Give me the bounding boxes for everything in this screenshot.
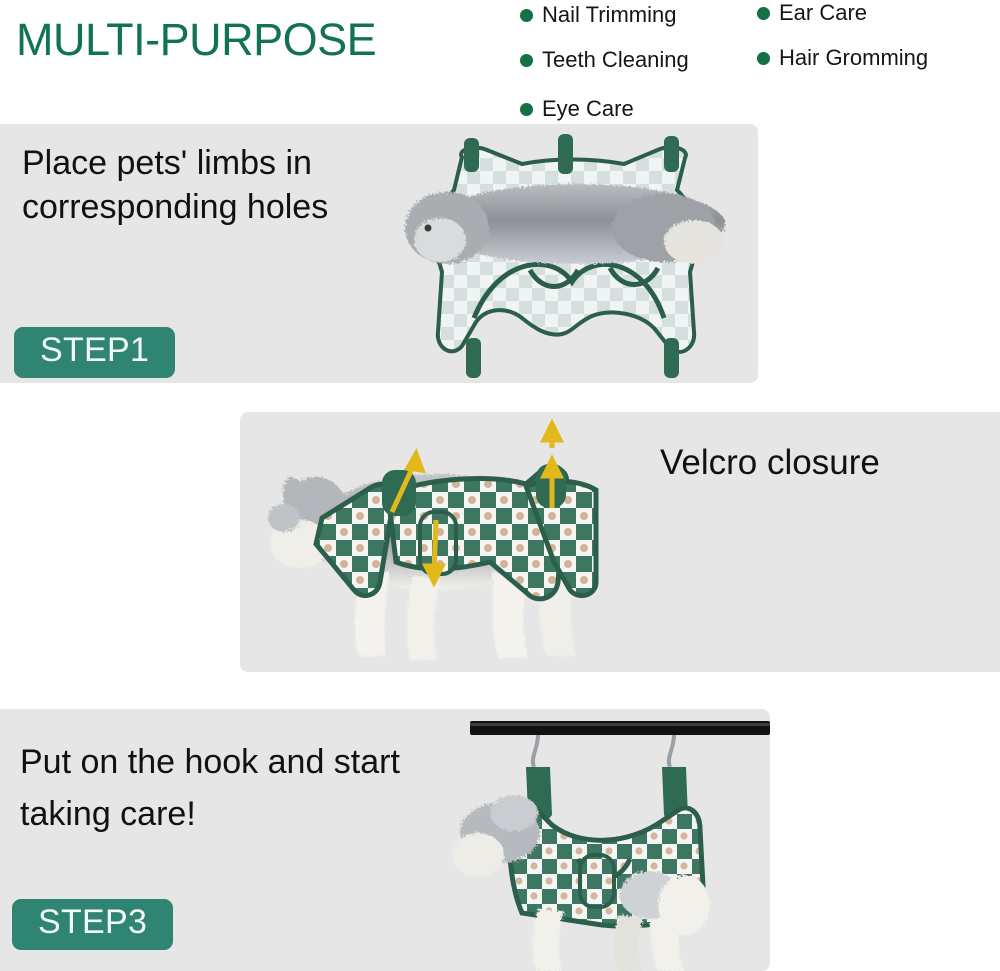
step-2-product-image	[240, 412, 660, 672]
step-3-text: Put on the hook and start taking care!	[20, 737, 450, 840]
feature-item-teeth-cleaning: Teeth Cleaning	[520, 47, 689, 73]
feature-item-nail-trimming: Nail Trimming	[520, 2, 676, 28]
page-title: MULTI-PURPOSE	[16, 14, 376, 66]
step-3-badge: STEP3	[12, 899, 173, 950]
step-3-panel: Put on the hook and start taking care!	[0, 709, 770, 971]
feature-item-eye-care: Eye Care	[520, 96, 634, 122]
step-2-panel: Velcro closure STEP2	[240, 412, 1000, 672]
bullet-dot-icon	[757, 7, 770, 20]
bullet-dot-icon	[520, 9, 533, 22]
feature-label: Teeth Cleaning	[542, 47, 689, 73]
infographic-root: MULTI-PURPOSE Nail Trimming Teeth Cleani…	[0, 0, 1000, 971]
feature-item-hair-gromming: Hair Gromming	[757, 45, 928, 71]
feature-list: Nail Trimming Teeth Cleaning Eye Care Ea…	[512, 0, 1000, 124]
step-1-panel: Place pets' limbs in corresponding holes	[0, 124, 758, 383]
feature-label: Nail Trimming	[542, 2, 676, 28]
bullet-dot-icon	[520, 54, 533, 67]
bullet-dot-icon	[520, 103, 533, 116]
feature-label: Eye Care	[542, 96, 634, 122]
step-2-panel-inner: Velcro closure STEP2	[240, 412, 1000, 672]
feature-item-ear-care: Ear Care	[757, 0, 867, 26]
step-2-text: Velcro closure	[660, 440, 990, 485]
step-1-text: Place pets' limbs in corresponding holes	[22, 142, 442, 230]
feature-label: Ear Care	[779, 0, 867, 26]
step-3-panel-inner: Put on the hook and start taking care!	[0, 709, 770, 971]
step-1-panel-inner: Place pets' limbs in corresponding holes	[0, 124, 758, 383]
step-3-product-image	[452, 709, 770, 971]
hook-icon	[533, 735, 674, 767]
bullet-dot-icon	[757, 52, 770, 65]
step-1-badge: STEP1	[14, 327, 175, 378]
feature-label: Hair Gromming	[779, 45, 928, 71]
step-1-product-image	[402, 132, 747, 383]
